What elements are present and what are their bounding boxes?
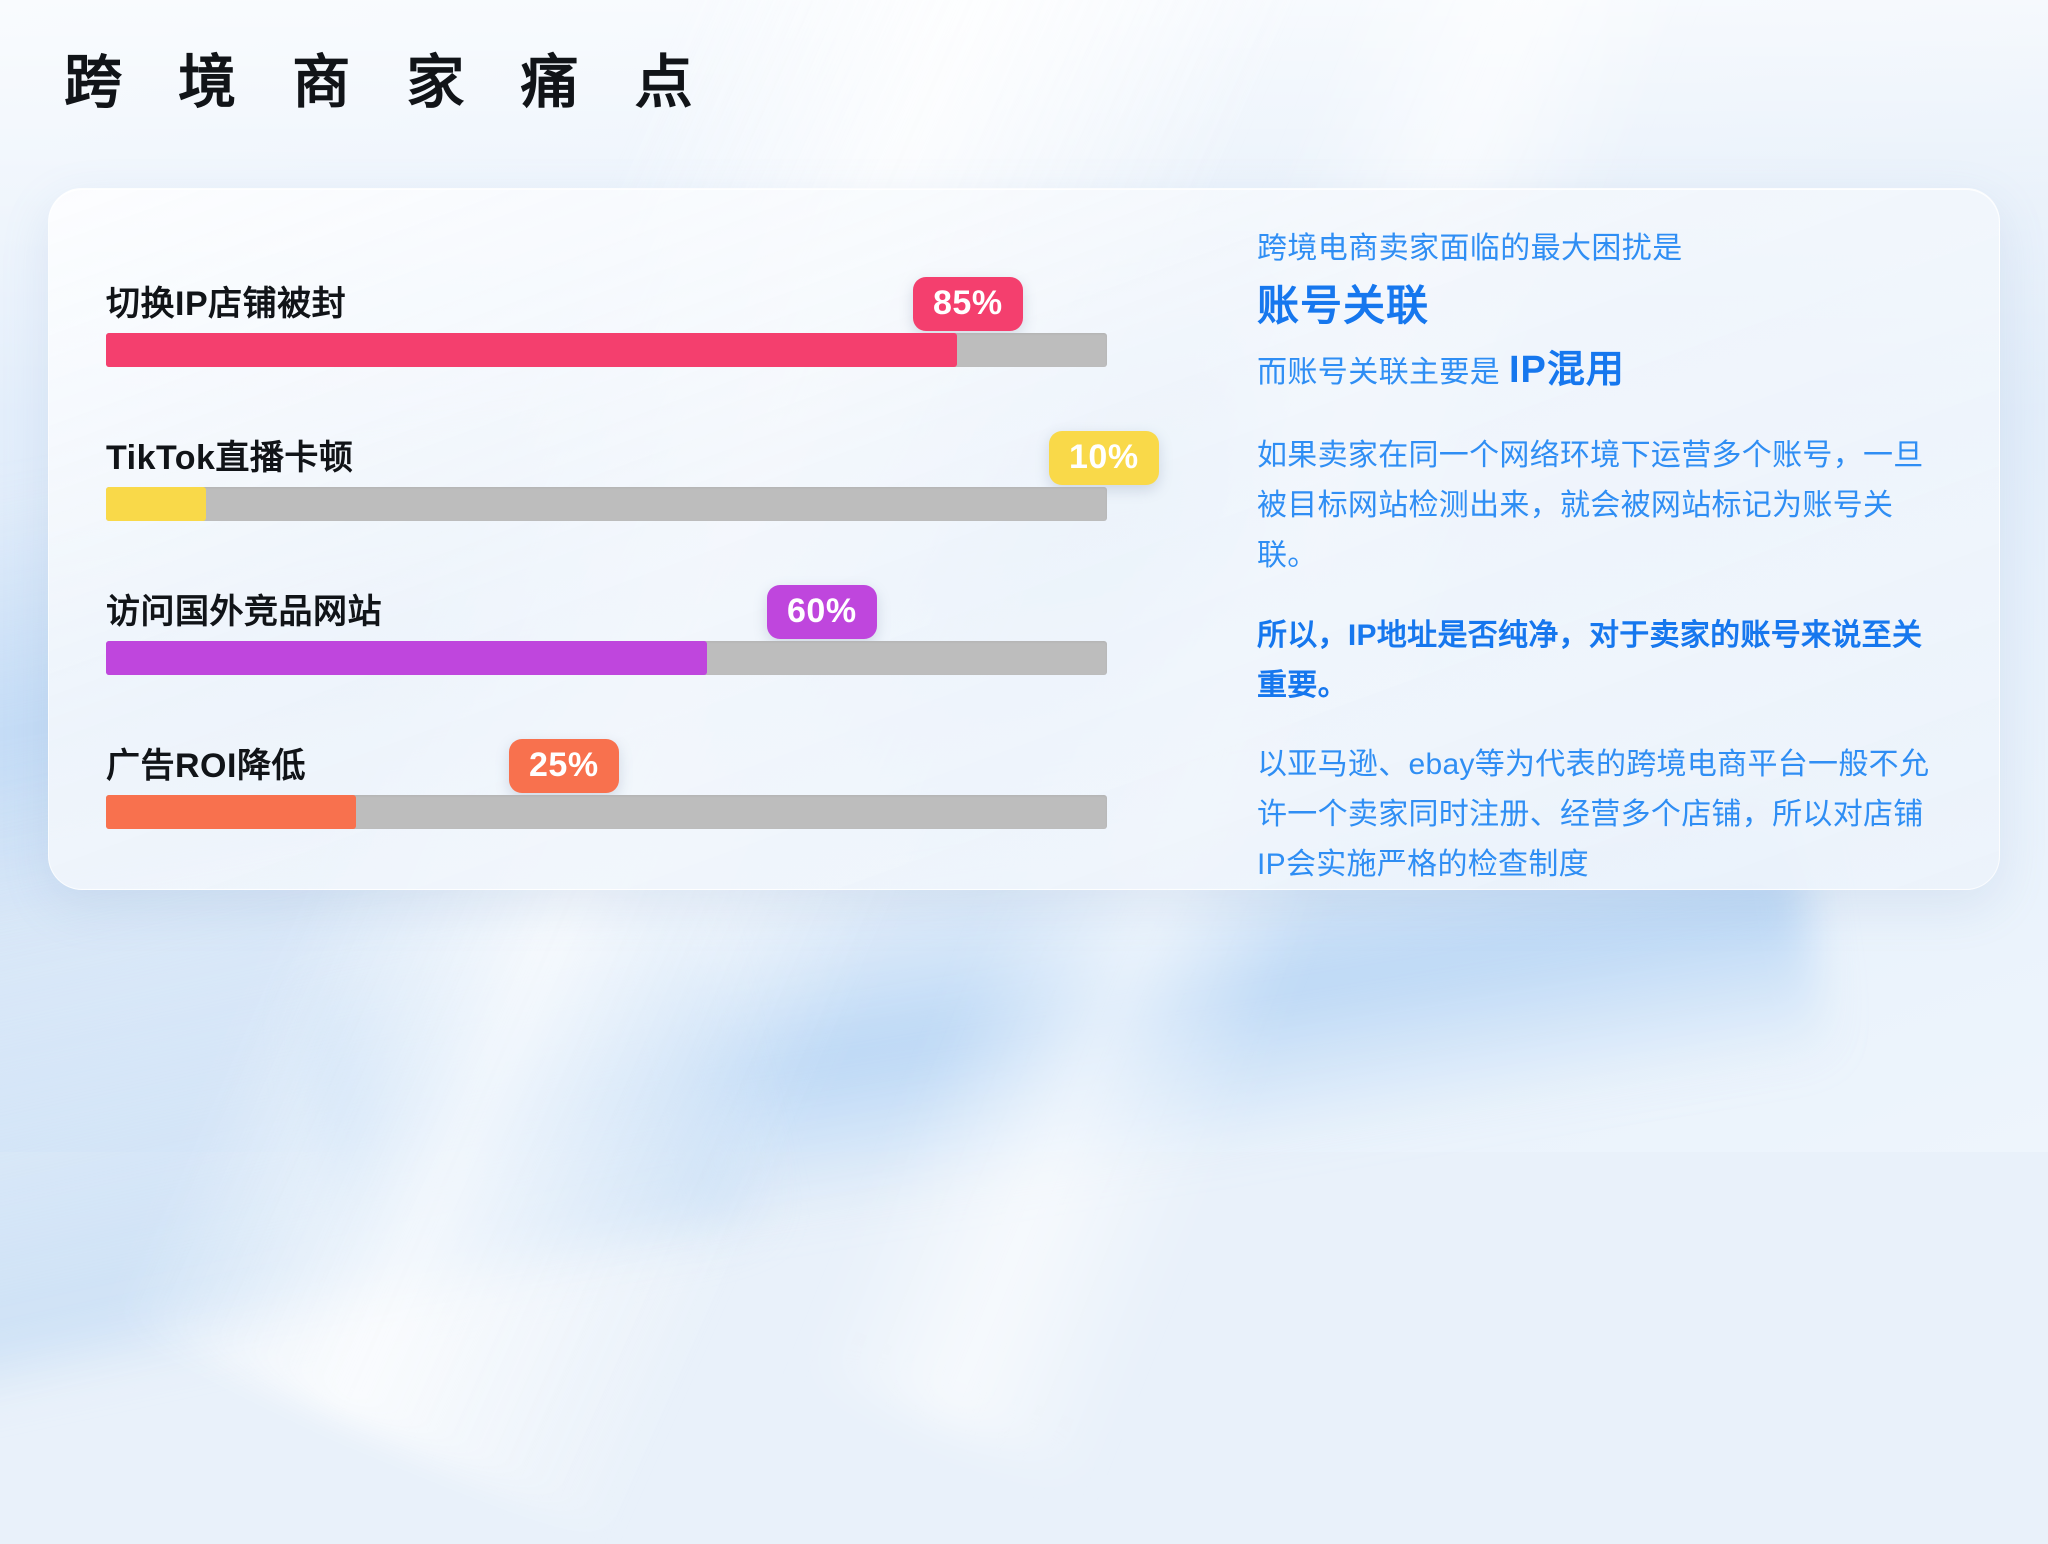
bar-track (106, 795, 1107, 829)
bar-value-badge: 85% (913, 277, 1023, 331)
bar-header: 切换IP店铺被封 85% (49, 247, 1199, 333)
bar-label: 访问国外竞品网站 (106, 584, 382, 633)
highlight-heading: 账号关联 (1257, 278, 1939, 334)
paragraph-three: 以亚马逊、ebay等为代表的跨境电商平台一般不允许一个卖家同时注册、经营多个店铺… (1257, 740, 1939, 889)
second-line: 而账号关联主要是 IP混用 (1257, 340, 1939, 402)
bar-label: 广告ROI降低 (106, 738, 306, 787)
bar-value-badge: 10% (1049, 431, 1159, 485)
bar-fill (106, 333, 957, 367)
content-card: 切换IP店铺被封 85% TikTok直播卡顿 10% 访问国外竞品网站 60% (48, 188, 2000, 890)
paragraph-two: 所以，IP地址是否纯净，对于卖家的账号来说至关重要。 (1257, 611, 1939, 711)
bar-row: 广告ROI降低 25% (49, 709, 1199, 863)
bar-row: TikTok直播卡顿 10% (49, 401, 1199, 555)
bar-header: 访问国外竞品网站 60% (49, 555, 1199, 641)
explanation-panel: 跨境电商卖家面临的最大困扰是 账号关联 而账号关联主要是 IP混用 如果卖家在同… (1199, 189, 1999, 889)
bar-header: 广告ROI降低 25% (49, 709, 1199, 795)
bar-label: 切换IP店铺被封 (106, 276, 346, 325)
bar-track (106, 333, 1107, 367)
second-line-strong: IP混用 (1509, 349, 1625, 391)
bar-row: 切换IP店铺被封 85% (49, 247, 1199, 401)
bar-row: 访问国外竞品网站 60% (49, 555, 1199, 709)
bar-value-badge: 60% (767, 585, 877, 639)
second-line-prefix: 而账号关联主要是 (1257, 356, 1509, 389)
pain-point-bar-chart: 切换IP店铺被封 85% TikTok直播卡顿 10% 访问国外竞品网站 60% (49, 189, 1199, 889)
bar-label: TikTok直播卡顿 (106, 430, 353, 479)
bar-header: TikTok直播卡顿 10% (49, 401, 1199, 487)
page-title: 跨 境 商 家 痛 点 (64, 54, 713, 112)
bar-fill (106, 641, 707, 675)
bar-fill (106, 487, 206, 521)
bar-track (106, 487, 1107, 521)
bar-track (106, 641, 1107, 675)
bar-fill (106, 795, 356, 829)
bar-value-badge: 25% (509, 739, 619, 793)
lead-text: 跨境电商卖家面临的最大困扰是 (1257, 225, 1939, 274)
paragraph-one: 如果卖家在同一个网络环境下运营多个账号，一旦被目标网站检测出来，就会被网站标记为… (1257, 431, 1939, 580)
